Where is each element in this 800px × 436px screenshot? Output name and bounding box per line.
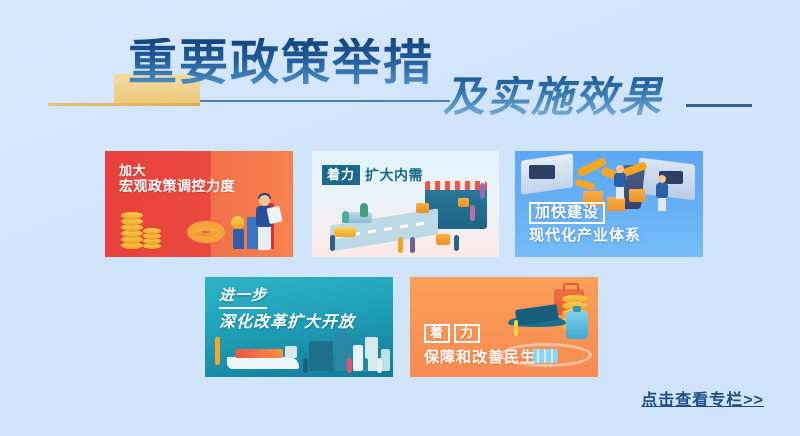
card2-line2: 扩大内需 [360, 167, 423, 184]
card3-line2: 现代化产业体系 [529, 227, 641, 245]
medicine-bottle-icon [566, 311, 588, 339]
card5-line2: 保障和改善民生 [424, 349, 536, 366]
card4-caption: 进一步 深化改革扩大开放 [219, 287, 355, 333]
poster-header: 重要政策举措 及实施效果 [0, 0, 800, 140]
car-icon [346, 212, 372, 223]
cargo-ship-icon [227, 347, 299, 369]
torus-icon [187, 221, 225, 243]
card2-caption: 着力 扩大内需 [322, 165, 423, 185]
card1-line2: 宏观政策调控力度 [119, 178, 235, 195]
machine-screen-icon [529, 165, 555, 179]
taxi-icon [334, 227, 356, 237]
factory-worker-icon [655, 175, 669, 211]
awning-icon [425, 181, 487, 190]
factory-worker-icon [613, 165, 627, 199]
tree-icon [342, 211, 349, 223]
crane-icon [215, 337, 220, 365]
card2-tag: 着力 [322, 165, 360, 185]
card5-tag1: 着 [424, 324, 450, 343]
card1-line1: 加大 [119, 163, 235, 178]
poster-canvas: 重要政策举措 及实施效果 加大 宏观政策调控力度 [0, 0, 800, 436]
coin-stack-icon [121, 209, 167, 249]
card4-line1: 进一步 [219, 287, 267, 309]
card-accelerate-modern-industrial-system[interactable]: 加快建设 现代化产业体系 [515, 151, 703, 257]
card4-line2: 深化改革扩大开放 [219, 314, 355, 333]
card-deepen-reform-open-up[interactable]: 进一步 深化改革扩大开放 [205, 277, 393, 377]
blue-rule-under-title [200, 100, 450, 102]
blue-rule-right [686, 104, 752, 107]
tree-icon [360, 203, 368, 217]
card-safeguard-improve-livelihood[interactable]: 着 力 保障和改善民生 [410, 277, 598, 377]
card-increase-macro-policy-regulation[interactable]: 加大 宏观政策调控力度 [105, 151, 293, 257]
page-title: 重要政策举措 [128, 38, 434, 87]
card3-caption: 加快建设 现代化产业体系 [529, 202, 641, 245]
gold-rule-left [48, 103, 200, 106]
view-column-link[interactable]: 点击查看专栏>> [641, 386, 764, 410]
card5-caption: 着 力 保障和改善民生 [424, 324, 536, 367]
card5-tag2: 力 [454, 324, 480, 343]
page-subtitle: 及实施效果 [443, 76, 663, 118]
analyst-person-icon [253, 195, 279, 251]
card1-caption: 加大 宏观政策调控力度 [119, 163, 235, 195]
card3-line1: 加快建设 [529, 202, 605, 225]
card-expand-domestic-demand[interactable]: 着力 扩大内需 [312, 151, 499, 257]
